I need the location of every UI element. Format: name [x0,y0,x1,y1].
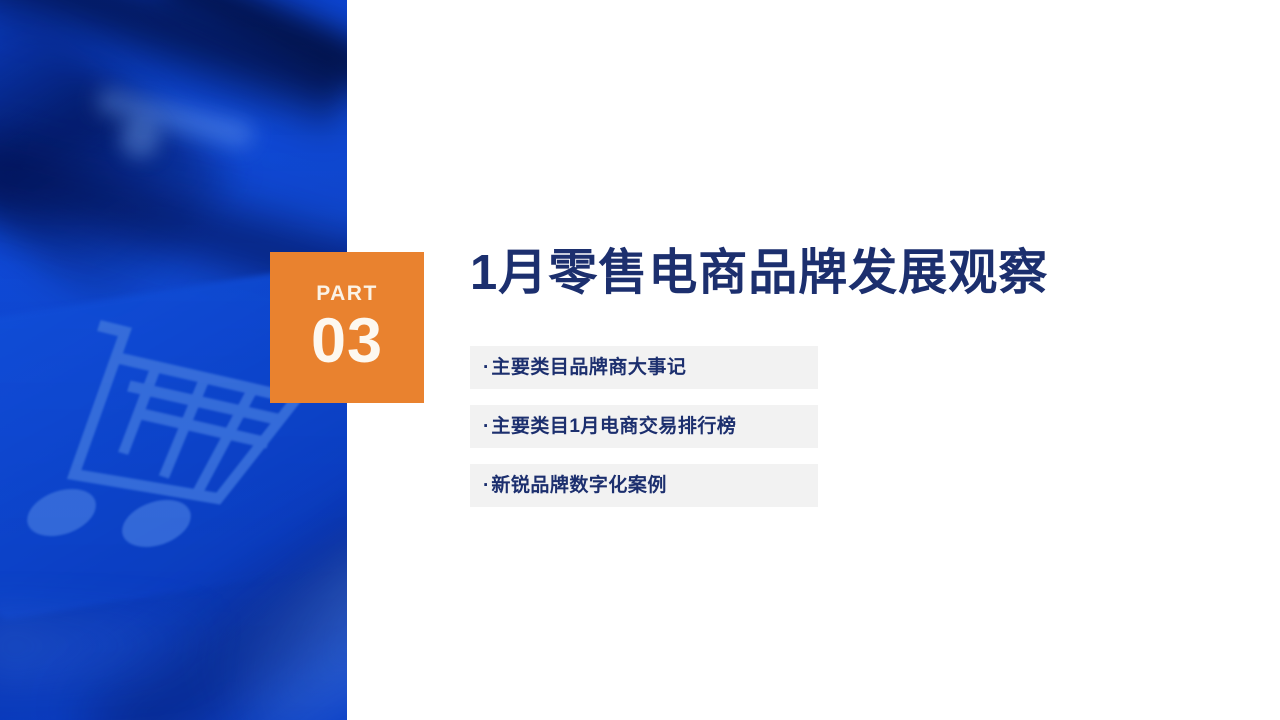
list-item-label: 新锐品牌数字化案例 [491,476,667,495]
page-title: 1月零售电商品牌发展观察 [470,249,1048,298]
list-item[interactable]: · 主要类目品牌商大事记 [470,346,818,389]
list-item-label: 主要类目1月电商交易排行榜 [491,417,736,436]
presentation-slide: PART 03 1月零售电商品牌发展观察 · 主要类目品牌商大事记 · 主要类目… [0,0,1280,720]
list-item[interactable]: · 新锐品牌数字化案例 [470,464,818,507]
part-badge: PART 03 [270,252,424,403]
list-item-label: 主要类目品牌商大事记 [491,358,686,377]
list-item[interactable]: · 主要类目1月电商交易排行榜 [470,405,818,448]
bullet-marker-icon: · [483,476,489,495]
part-label: PART [316,283,378,304]
part-number: 03 [311,310,383,373]
slide-content: 1月零售电商品牌发展观察 · 主要类目品牌商大事记 · 主要类目1月电商交易排行… [470,0,1280,720]
bullet-marker-icon: · [483,358,489,377]
agenda-list: · 主要类目品牌商大事记 · 主要类目1月电商交易排行榜 · 新锐品牌数字化案例 [470,346,818,507]
bullet-marker-icon: · [483,417,489,436]
